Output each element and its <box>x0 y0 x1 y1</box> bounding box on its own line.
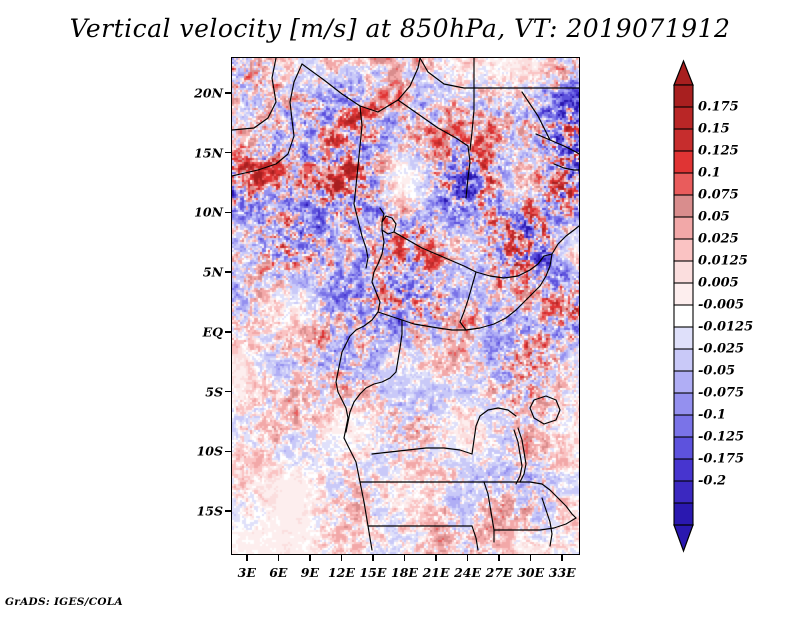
vertical-velocity-heatmap <box>232 58 579 554</box>
x-axis-tick-label: 21E <box>423 565 450 580</box>
colorbar-tick-label: 0.005 <box>698 276 739 291</box>
colorbar-tick-label: 0.15 <box>698 122 730 137</box>
colorbar-band <box>674 151 693 173</box>
x-axis-tick <box>498 555 500 561</box>
x-axis-tick <box>530 555 532 561</box>
colorbar-band <box>674 437 693 459</box>
x-axis-tick <box>435 555 437 561</box>
colorbar-tick-label: -0.005 <box>698 298 744 313</box>
x-axis-tick <box>372 555 374 561</box>
colorbar-tick-label: 0.075 <box>698 188 739 203</box>
y-axis-tick-label: 5N <box>189 265 223 280</box>
y-axis-tick-label: EQ <box>189 324 223 339</box>
x-axis-tick <box>561 555 563 561</box>
y-axis-tick <box>225 212 231 214</box>
colorbar-band <box>674 415 693 437</box>
y-axis-tick <box>225 152 231 154</box>
y-axis-tick <box>225 331 231 333</box>
map-plot-area <box>231 57 580 555</box>
x-axis-tick-label: 9E <box>301 565 319 580</box>
y-axis-tick <box>225 391 231 393</box>
colorbar-band <box>674 327 693 349</box>
colorbar-tick-label: 0.05 <box>698 210 730 225</box>
colorbar-max-arrow <box>674 61 693 85</box>
x-axis-tick-label: 27E <box>486 565 513 580</box>
colorbar-tick-label: -0.025 <box>698 342 744 357</box>
y-axis-tick <box>225 92 231 94</box>
x-axis-tick <box>404 555 406 561</box>
colorbar-band <box>674 283 693 305</box>
colorbar: 0.1750.150.1250.10.0750.050.0250.01250.0… <box>672 57 792 557</box>
colorbar-band <box>674 349 693 371</box>
colorbar-band <box>674 239 693 261</box>
y-axis-tick-label: 15S <box>189 504 223 519</box>
colorbar-tick-label: -0.0125 <box>698 320 753 335</box>
x-axis-tick-label: 12E <box>328 565 355 580</box>
colorbar-band <box>674 217 693 239</box>
y-axis-tick <box>225 510 231 512</box>
colorbar-band <box>674 129 693 151</box>
colorbar-tick-label: -0.05 <box>698 364 735 379</box>
x-axis-tick-label: 6E <box>269 565 287 580</box>
colorbar-band <box>674 481 693 503</box>
x-axis-tick-label: 30E <box>517 565 544 580</box>
colorbar-tick-label: 0.175 <box>698 100 739 115</box>
x-axis-tick-label: 24E <box>454 565 481 580</box>
x-axis-tick <box>341 555 343 561</box>
y-axis-tick-label: 5S <box>189 384 223 399</box>
x-axis-tick-label: 15E <box>359 565 386 580</box>
colorbar-tick-label: -0.175 <box>698 452 744 467</box>
y-axis-tick <box>225 451 231 453</box>
y-axis-tick-label: 15N <box>189 145 223 160</box>
x-axis-tick-label: 3E <box>238 565 256 580</box>
colorbar-band <box>674 459 693 481</box>
y-axis-tick-label: 10S <box>189 444 223 459</box>
x-axis-tick-label: 18E <box>391 565 418 580</box>
x-axis-tick <box>467 555 469 561</box>
colorbar-band <box>674 85 693 107</box>
colorbar-band <box>674 195 693 217</box>
colorbar-tick-label: 0.1 <box>698 166 721 181</box>
x-axis-tick <box>309 555 311 561</box>
colorbar-tick-label: -0.125 <box>698 430 744 445</box>
colorbar-band <box>674 261 693 283</box>
page-title: Vertical velocity [m/s] at 850hPa, VT: 2… <box>0 14 800 43</box>
y-axis-tick-label: 10N <box>189 205 223 220</box>
x-axis-tick <box>246 555 248 561</box>
colorbar-band <box>674 393 693 415</box>
grads-attribution: GrADS: IGES/COLA <box>5 596 123 608</box>
colorbar-band <box>674 503 693 525</box>
x-axis-tick <box>278 555 280 561</box>
colorbar-tick-label: -0.1 <box>698 408 726 423</box>
colorbar-band <box>674 371 693 393</box>
colorbar-tick-label: -0.075 <box>698 386 744 401</box>
x-axis-tick-label: 33E <box>549 565 576 580</box>
colorbar-band <box>674 305 693 327</box>
colorbar-tick-label: 0.0125 <box>698 254 748 269</box>
colorbar-tick-label: 0.125 <box>698 144 739 159</box>
y-axis-tick-label: 20N <box>189 85 223 100</box>
colorbar-band <box>674 107 693 129</box>
colorbar-min-arrow <box>674 525 693 551</box>
colorbar-tick-label: 0.025 <box>698 232 739 247</box>
y-axis-tick <box>225 271 231 273</box>
colorbar-tick-label: -0.2 <box>698 474 726 489</box>
colorbar-band <box>674 173 693 195</box>
